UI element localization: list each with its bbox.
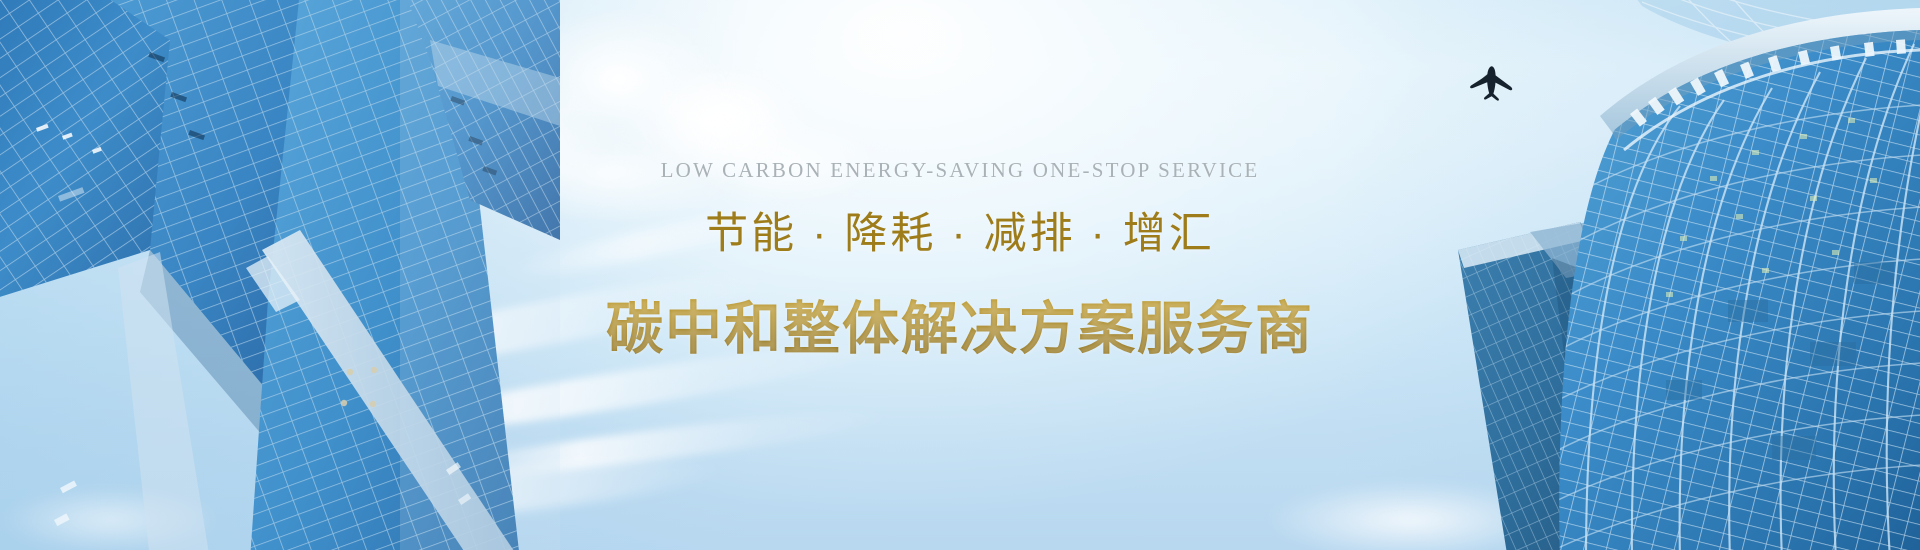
hero-banner: LOW CARBON ENERGY-SAVING ONE-STOP SERVIC… bbox=[0, 0, 1920, 550]
airplane-icon bbox=[1462, 58, 1524, 110]
skyscraper-right-icon bbox=[1380, 0, 1920, 550]
skyscraper-left-icon bbox=[0, 0, 560, 550]
